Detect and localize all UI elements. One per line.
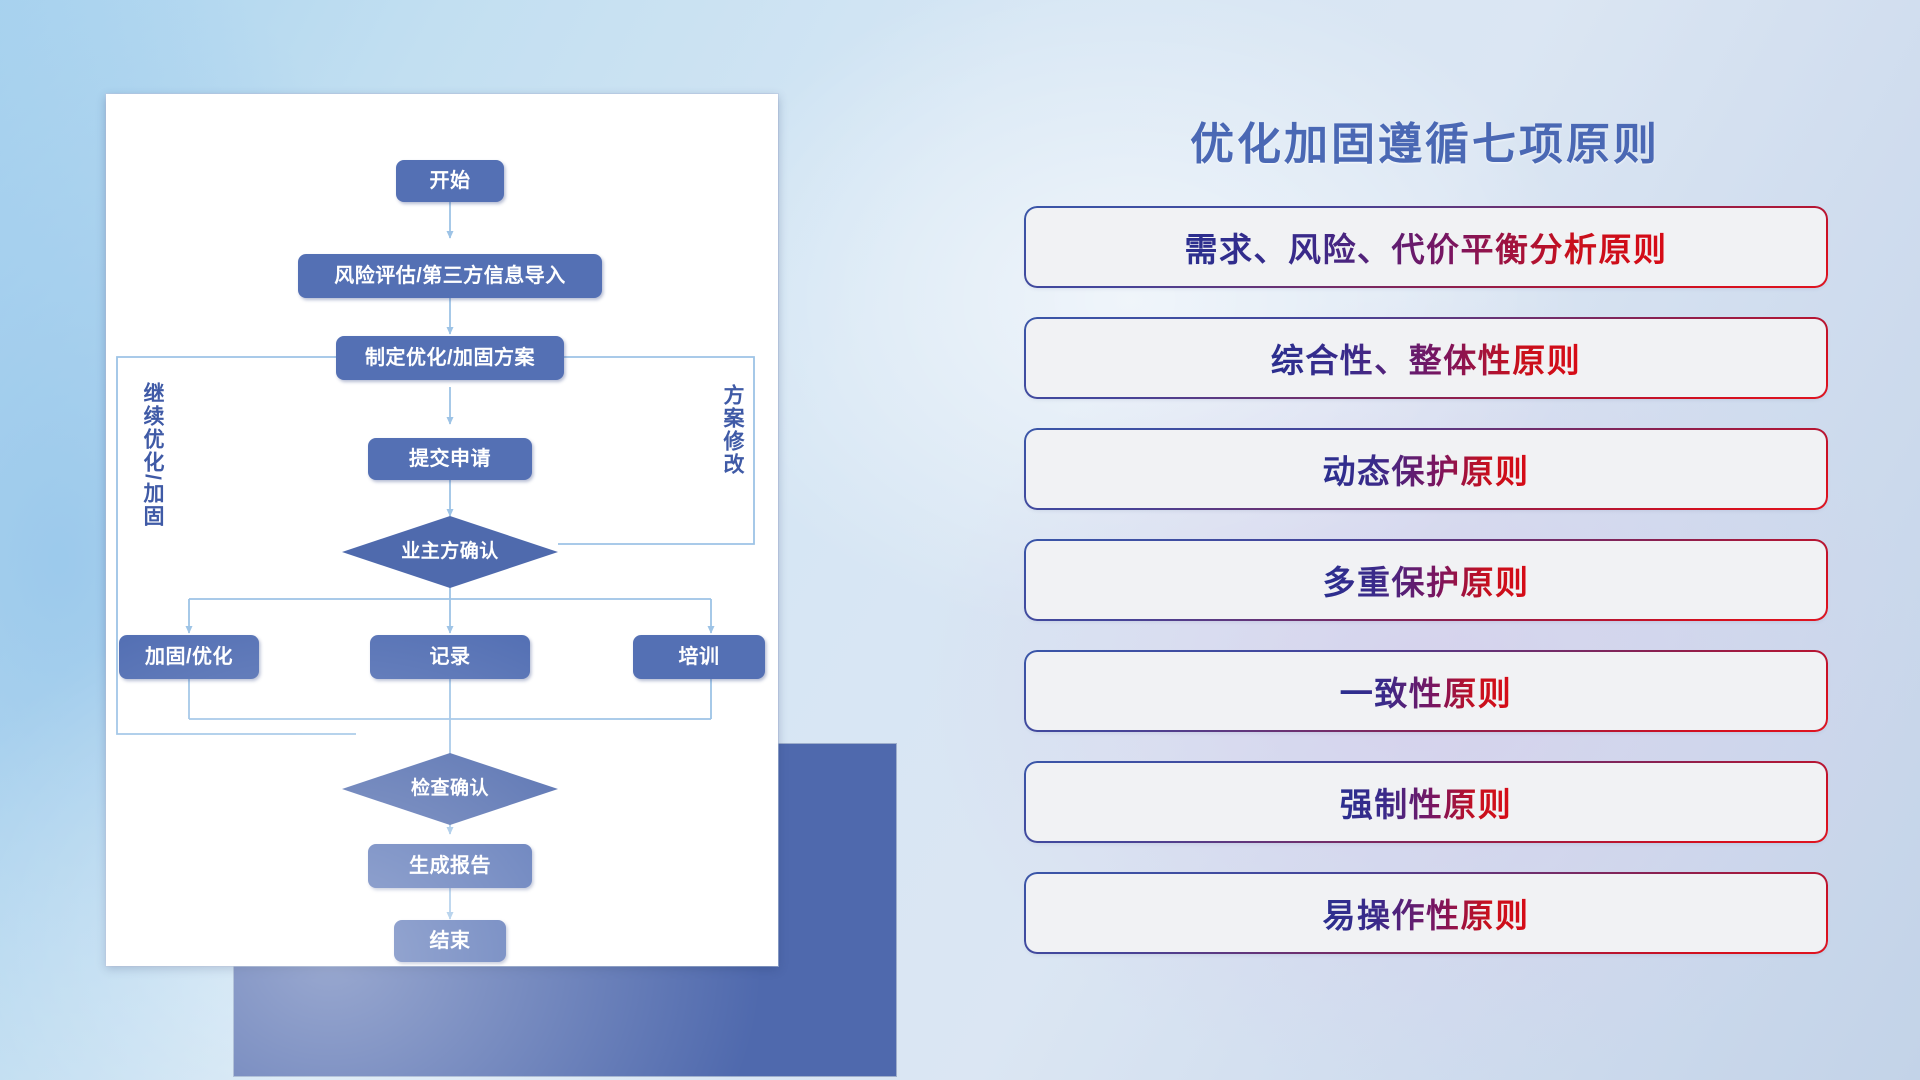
principles-title: 优化加固遵循七项原则 — [1020, 108, 1830, 172]
flow-node-submit-application[interactable]: 提交申请 — [368, 438, 532, 480]
flow-node-plan[interactable]: 制定优化/加固方案 — [336, 336, 564, 380]
principle-card[interactable]: 动态保护原则 — [1026, 430, 1826, 508]
flow-node-reinforce-optimize[interactable]: 加固/优化 — [119, 635, 259, 679]
principles-panel: 优化加固遵循七项原则 需求、风险、代价平衡分析原则 综合性、整体性原则 动态保护… — [1020, 96, 1830, 1016]
flow-node-label: 检查确认 — [411, 779, 489, 799]
flow-node-label: 开始 — [430, 171, 471, 192]
flow-node-record[interactable]: 记录 — [370, 635, 530, 679]
flow-node-end[interactable]: 结束 — [394, 920, 506, 962]
flowchart-paper: 开始 风险评估/第三方信息导入 制定优化/加固方案 提交申请 业主方确认 — [106, 94, 778, 966]
principle-card[interactable]: 多重保护原则 — [1026, 541, 1826, 619]
flow-node-label: 制定优化/加固方案 — [365, 348, 535, 369]
flow-node-label: 提交申请 — [409, 449, 491, 470]
principle-card-label: 需求、风险、代价平衡分析原则 — [1185, 223, 1668, 271]
principle-card-label: 易操作性原则 — [1323, 889, 1530, 937]
flow-node-label: 生成报告 — [409, 856, 491, 877]
flowchart-panel: 开始 风险评估/第三方信息导入 制定优化/加固方案 提交申请 业主方确认 — [106, 94, 786, 994]
flow-node-label: 培训 — [679, 647, 720, 668]
principle-card-label: 一致性原则 — [1340, 667, 1513, 715]
flow-node-label: 加固/优化 — [145, 647, 233, 668]
flow-node-label: 记录 — [430, 647, 471, 668]
principle-card[interactable]: 易操作性原则 — [1026, 874, 1826, 952]
principle-card-label: 强制性原则 — [1340, 778, 1513, 826]
slide-canvas: 开始 风险评估/第三方信息导入 制定优化/加固方案 提交申请 业主方确认 — [0, 0, 1920, 1080]
flow-edge-label-plan-revision: 方案修改 — [722, 384, 743, 476]
principle-card-label: 动态保护原则 — [1323, 445, 1530, 493]
flow-node-label: 风险评估/第三方信息导入 — [334, 266, 566, 287]
principle-card[interactable]: 一致性原则 — [1026, 652, 1826, 730]
flow-node-check-confirm[interactable]: 检查确认 — [342, 753, 558, 825]
flow-node-training[interactable]: 培训 — [633, 635, 765, 679]
flow-node-label: 结束 — [430, 931, 471, 952]
principle-card[interactable]: 综合性、整体性原则 — [1026, 319, 1826, 397]
principle-card[interactable]: 需求、风险、代价平衡分析原则 — [1026, 208, 1826, 286]
flow-node-generate-report[interactable]: 生成报告 — [368, 844, 532, 888]
flow-node-risk-assessment[interactable]: 风险评估/第三方信息导入 — [298, 254, 602, 298]
principles-card-list: 需求、风险、代价平衡分析原则 综合性、整体性原则 动态保护原则 多重保护原则 一… — [1026, 208, 1826, 985]
flow-edge-label-continue-optimize: 继续优化/加固 — [142, 382, 163, 528]
flow-node-start[interactable]: 开始 — [396, 160, 504, 202]
flow-node-label: 业主方确认 — [401, 542, 499, 562]
flow-node-owner-confirm[interactable]: 业主方确认 — [342, 516, 558, 588]
principle-card-label: 多重保护原则 — [1323, 556, 1530, 604]
principle-card[interactable]: 强制性原则 — [1026, 763, 1826, 841]
principle-card-label: 综合性、整体性原则 — [1271, 334, 1582, 382]
